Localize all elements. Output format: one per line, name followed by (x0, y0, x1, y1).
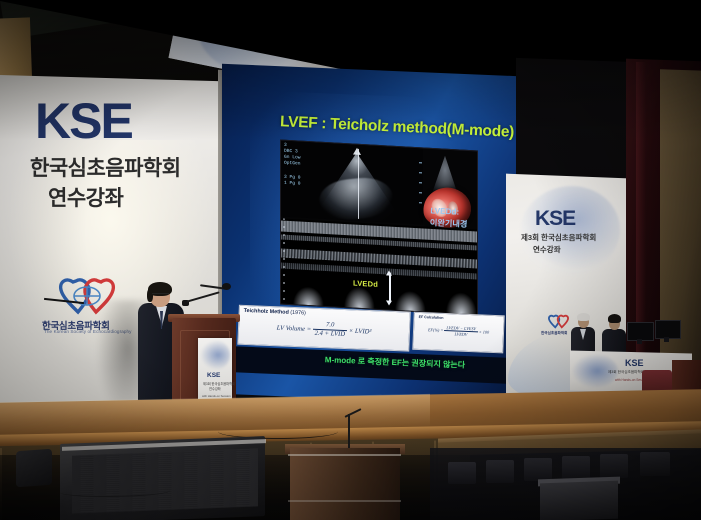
ultrasound-text-0: 3 (284, 143, 287, 148)
right-banner-logo: KSE (535, 207, 575, 231)
teichholz-multiplier: × LVID³ (349, 328, 372, 336)
microphone-head-icon (222, 283, 231, 290)
teichholz-heading-year: (1976) (290, 310, 306, 317)
ultrasound-depth-tick (419, 182, 422, 183)
foreground-podium-rim-lower (288, 500, 401, 502)
lvedd-annotation: LVEDd: 이완기내경 (430, 205, 509, 232)
right-banner-heart-logo-icon (548, 314, 569, 329)
mmode-lvedd-label: LVEDd (353, 279, 378, 289)
operator-monitor-1-stand (637, 339, 642, 344)
right-banner-line2: 연수강좌 (533, 244, 561, 255)
ef-lhs: EF(%) = (428, 327, 443, 333)
right-wall-wood-panel (660, 69, 701, 401)
ef-fraction: LVEDV − LVESV LVEDV (444, 325, 478, 338)
teichholz-lhs: LV Volume = (277, 325, 312, 333)
right-banner-line1: 제3회 한국심초음파학회 (521, 232, 596, 243)
lvedd-arrow-top-icon (386, 270, 392, 275)
audience-chair (448, 462, 476, 484)
ultrasound-depth-tick (419, 162, 422, 163)
teichholz-formula-panel: Teichholz Method (1976) LV Volume = 7.0 … (237, 305, 410, 352)
audience-chair (562, 456, 590, 479)
foreground-microphone-stem (348, 414, 350, 448)
left-banner-line1: 한국심초음파학회 (30, 152, 181, 182)
ef-multiplier: × 100 (479, 329, 489, 334)
lvedd-arrow-bottom-icon (386, 300, 392, 305)
side-table-logo: KSE (625, 358, 644, 368)
audience-chair (486, 460, 514, 483)
foreground-podium (290, 448, 400, 520)
mmode-cursor-arrow-icon (353, 148, 361, 155)
seated-person-hair (608, 314, 621, 323)
audience-chair (600, 454, 628, 478)
left-banner-logo: KSE (35, 92, 132, 150)
teichholz-heading: Teichholz Method (1976) (244, 308, 306, 316)
left-banner-line2: 연수강좌 (48, 182, 123, 212)
foreground-stool (540, 481, 618, 520)
conference-photo-scene: KSE 제3회 한국심초음파학회 연수강좌 with Hands-on Sess… (0, 0, 701, 520)
mmode-cursor-line (358, 149, 359, 219)
lvedd-measure-line (389, 273, 391, 303)
ef-heading: EF Calculation (419, 315, 444, 320)
mmode-depth-scale (283, 219, 285, 304)
ef-denominator: LVEDV (444, 331, 478, 338)
podium-sign-logo: KSE (207, 372, 220, 379)
operator-monitor-2-stand (664, 337, 669, 342)
ef-equation: EF(%) = LVEDV − LVESV LVEDV × 100 (414, 324, 503, 339)
podium-sign-line2: 연수강좌 (209, 386, 221, 391)
audience-chair (640, 452, 670, 476)
ultrasound-depth-tick (419, 172, 422, 173)
right-banner-society-name: 한국심초음파학회 (541, 331, 567, 336)
teichholz-heading-bold: Teichholz Method (244, 308, 289, 316)
ef-calculation-panel: EF Calculation EF(%) = LVEDV − LVESV LVE… (412, 312, 504, 354)
speaker-glasses (152, 293, 169, 298)
teichholz-denominator: 2.4 + LVID (312, 330, 347, 340)
ultrasound-text-5: 1 Pg 0 (284, 181, 301, 187)
audience-chair (524, 458, 552, 481)
mmode-tracing-area: LVEDd (281, 219, 477, 315)
ultrasound-depth-tick (419, 192, 422, 193)
teichholz-fraction: 7.0 2.4 + LVID (312, 321, 347, 340)
foreground-loudspeaker-grille (72, 448, 258, 513)
ultrasound-depth-tick (419, 202, 422, 203)
ultrasound-text-4: 3 Pg 0 (284, 175, 301, 181)
ultrasound-text-2: Gn Low (284, 155, 301, 161)
standing-person-hair (577, 313, 590, 321)
floor-monitor-speaker (16, 449, 52, 488)
teichholz-equation: LV Volume = 7.0 2.4 + LVID × LVID³ (239, 318, 410, 343)
foreground-podium-rim (288, 454, 401, 456)
ultrasound-text-3: OptGen (284, 161, 301, 167)
ultrasound-text-1: DBC 3 (284, 149, 298, 155)
podium-sign-swoosh (200, 340, 230, 370)
